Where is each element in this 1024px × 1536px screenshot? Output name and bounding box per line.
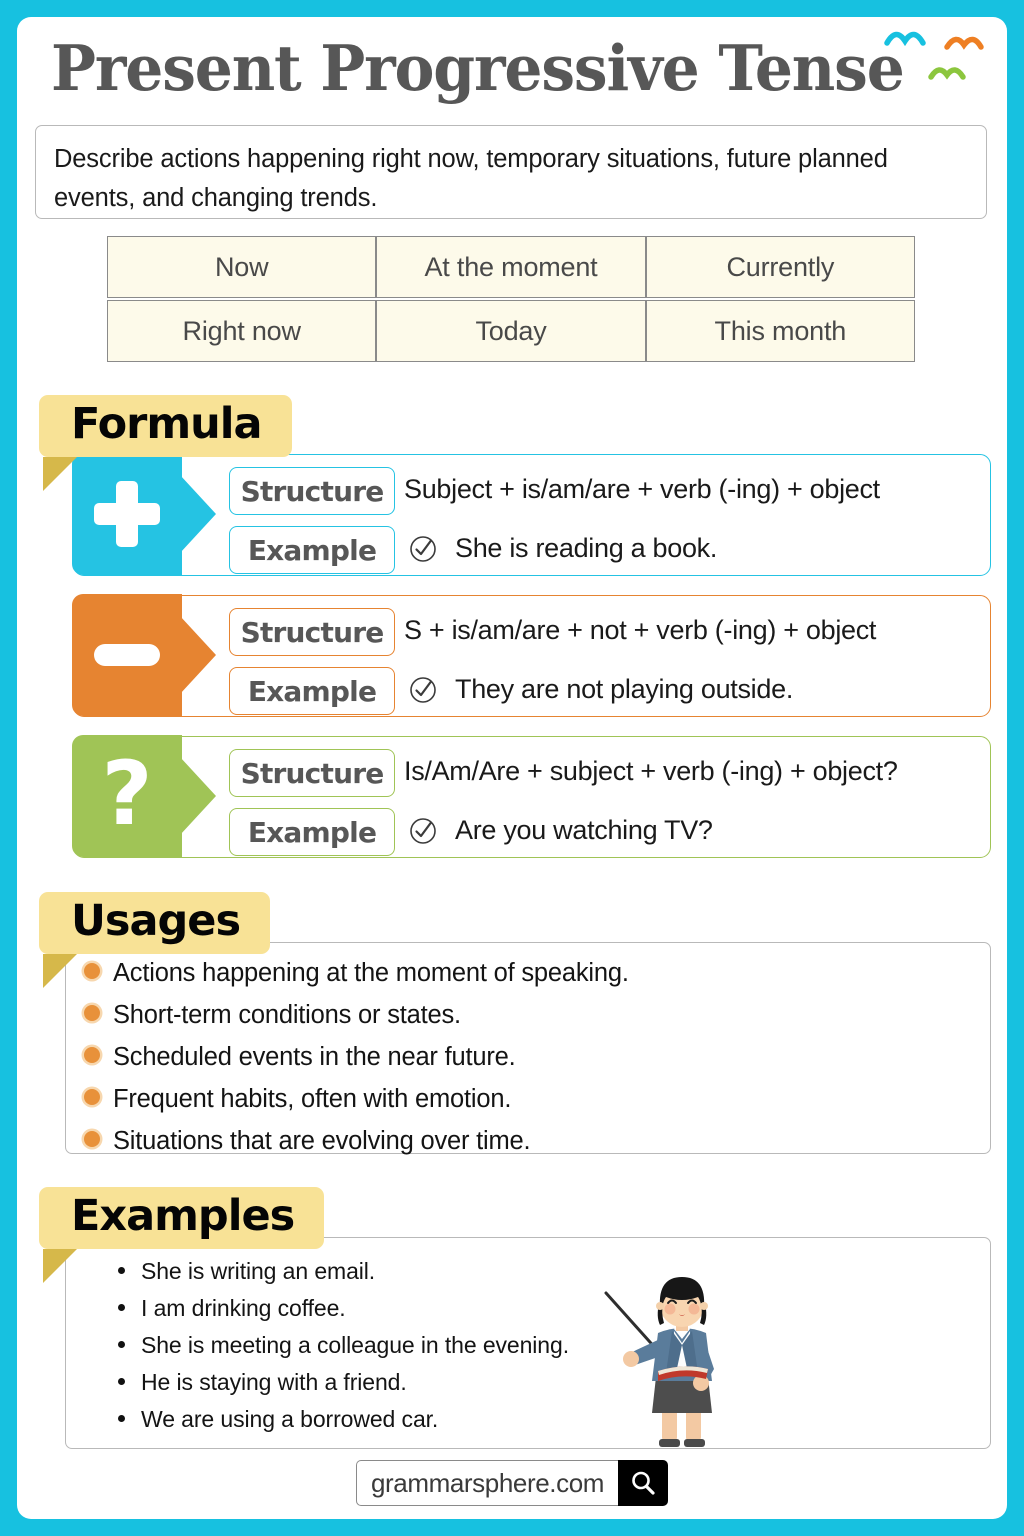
bullet-dot-icon [118,1378,125,1385]
time-cell: This month [646,300,915,362]
example-label: Example [229,667,395,715]
usage-text: Situations that are evolving over time. [113,1127,530,1156]
example-text: They are not playing outside. [455,674,793,705]
example-label: Example [229,526,395,574]
example-sentence: I am drinking coffee. [141,1295,346,1322]
arrow-pointer [180,475,216,553]
time-expressions-table: Now At the moment Currently Right now To… [107,236,915,362]
list-item: Frequent habits, often with emotion. [84,1085,990,1127]
usage-text: Frequent habits, often with emotion. [113,1085,511,1114]
poster-card: Present Progressive Tense Describe actio… [17,17,1007,1519]
usage-text: Scheduled events in the near future. [113,1043,516,1072]
page-title: Present Progressive Tense [51,31,935,105]
structure-text: Is/Am/Are + subject + verb (-ing) + obje… [404,756,898,787]
arrow-pointer [180,757,216,835]
time-cell: Currently [646,236,915,298]
example-label: Example [229,808,395,856]
teacher-illustration [600,1273,750,1448]
check-circle-icon [409,676,437,704]
footer: grammarsphere.com [17,1460,1007,1506]
banner-label: Examples [39,1187,324,1249]
description-box: Describe actions happening right now, te… [35,125,987,219]
bullet-dot-icon [84,1047,100,1063]
list-item: Actions happening at the moment of speak… [84,959,990,1001]
example-line: She is reading a book. [409,533,717,564]
banner-label: Usages [39,892,270,954]
plus-icon [72,453,182,575]
structure-label: Structure [229,467,395,515]
banner-label: Formula [39,395,292,457]
banner-fold [43,954,77,988]
usages-box: Actions happening at the moment of speak… [65,942,991,1154]
bullet-dot-icon [118,1267,125,1274]
time-cell: Right now [107,300,376,362]
list-item: Short-term conditions or states. [84,1001,990,1043]
search-button[interactable] [618,1460,668,1506]
list-item: He is staying with a friend. [118,1369,990,1406]
formula-row-negative: Structure Example S + is/am/are + not + … [73,595,991,717]
minus-icon [72,594,182,716]
list-item: She is meeting a colleague in the evenin… [118,1332,990,1369]
time-cell: Now [107,236,376,298]
check-circle-icon [409,535,437,563]
usage-text: Short-term conditions or states. [113,1001,461,1030]
search-icon [629,1469,657,1497]
list-item: She is writing an email. [118,1258,990,1295]
example-sentence: She is meeting a colleague in the evenin… [141,1332,569,1359]
formula-row-positive: Structure Example Subject + is/am/are + … [73,454,991,576]
list-item: We are using a borrowed car. [118,1406,990,1443]
bullet-dot-icon [84,1005,100,1021]
bullet-dot-icon [84,963,100,979]
check-circle-icon [409,817,437,845]
banner-fold [43,1249,77,1283]
site-url-text[interactable]: grammarsphere.com [356,1460,618,1506]
banner-fold [43,457,77,491]
structure-label: Structure [229,749,395,797]
structure-text: Subject + is/am/are + verb (-ing) + obje… [404,474,880,505]
bullet-dot-icon [118,1304,125,1311]
bullet-dot-icon [84,1089,100,1105]
bullet-dot-icon [118,1341,125,1348]
example-line: Are you watching TV? [409,815,713,846]
example-sentence: She is writing an email. [141,1258,375,1285]
example-text: Are you watching TV? [455,815,713,846]
description-text: Describe actions happening right now, te… [54,140,968,218]
birds-decoration [879,21,999,83]
example-sentence: He is staying with a friend. [141,1369,407,1396]
time-cell: Today [376,300,645,362]
time-cell: At the moment [376,236,645,298]
section-banner-formula: Formula [39,395,292,457]
example-text: She is reading a book. [455,533,717,564]
structure-text: S + is/am/are + not + verb (-ing) + obje… [404,615,876,646]
arrow-pointer [180,616,216,694]
examples-box: She is writing an email. I am drinking c… [65,1237,991,1449]
structure-label: Structure [229,608,395,656]
header: Present Progressive Tense [17,17,1007,125]
question-mark-icon: ? [72,735,182,857]
bullet-dot-icon [84,1131,100,1147]
example-line: They are not playing outside. [409,674,793,705]
list-item: Situations that are evolving over time. [84,1127,990,1169]
formula-row-question: ? Structure Example Is/Am/Are + subject … [73,736,991,858]
section-banner-examples: Examples [39,1187,324,1249]
site-search-bar[interactable]: grammarsphere.com [356,1460,668,1506]
list-item: Scheduled events in the near future. [84,1043,990,1085]
list-item: I am drinking coffee. [118,1295,990,1332]
bullet-dot-icon [118,1415,125,1422]
example-sentence: We are using a borrowed car. [141,1406,438,1433]
usage-text: Actions happening at the moment of speak… [113,959,629,988]
section-banner-usages: Usages [39,892,270,954]
